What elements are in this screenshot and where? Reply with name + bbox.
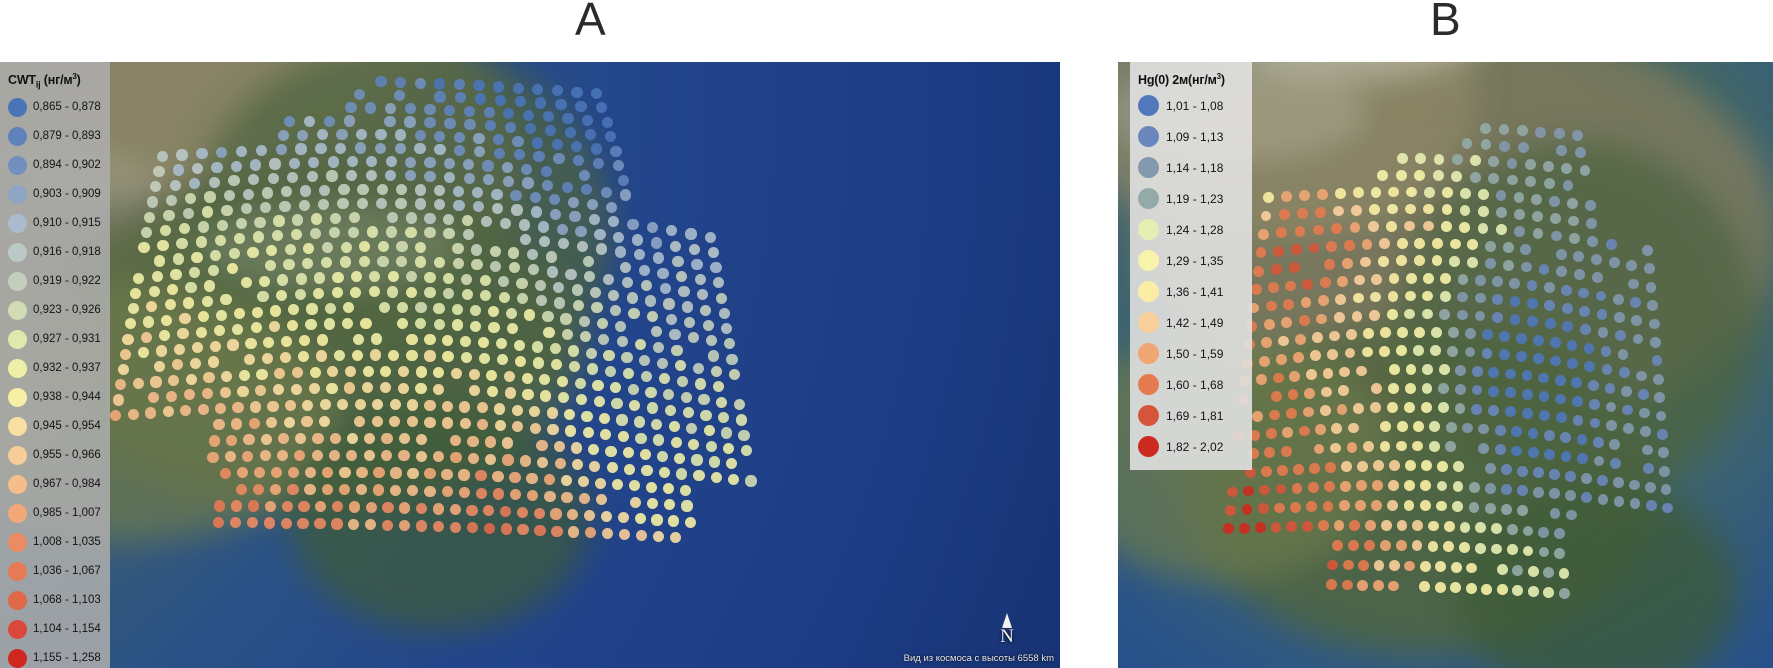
data-cell-dot	[1293, 352, 1304, 363]
data-cell-dot	[1404, 480, 1415, 491]
data-cell-dot	[1281, 446, 1292, 457]
data-cell-dot	[1543, 567, 1554, 578]
data-cell-dot	[415, 78, 426, 89]
data-cell-dot	[1544, 430, 1555, 441]
data-cell-dot	[512, 405, 523, 416]
data-cell-dot	[1478, 189, 1489, 200]
legend-item: 1,24 - 1,28	[1136, 214, 1244, 245]
data-cell-dot	[1349, 520, 1360, 531]
data-cell-dot	[1621, 386, 1632, 397]
data-cell-dot	[700, 410, 711, 421]
data-cell-dot	[1469, 482, 1480, 493]
data-cell-dot	[1429, 441, 1440, 452]
data-cell-dot	[591, 143, 602, 154]
data-cell-dot	[533, 357, 544, 368]
data-cell-dot	[536, 440, 547, 451]
data-cell-dot	[1323, 368, 1334, 379]
data-cell-dot	[1556, 249, 1567, 260]
data-cell-dot	[227, 339, 238, 350]
data-cell-dot	[1589, 399, 1600, 410]
data-cell-dot	[512, 136, 523, 147]
data-cell-dot	[502, 162, 513, 173]
data-cell-dot	[1511, 426, 1522, 437]
data-cell-dot	[1485, 483, 1496, 494]
data-cell-dot	[299, 200, 310, 211]
data-cell-dot	[562, 182, 573, 193]
data-cell-dot	[1432, 238, 1443, 249]
data-cell-dot	[221, 205, 232, 216]
data-cell-dot	[1459, 222, 1470, 233]
data-cell-dot	[555, 458, 566, 469]
legend-title-main-b: Hg(0) 2м	[1138, 73, 1188, 87]
legend-item: 0,916 - 0,918	[6, 238, 102, 267]
data-cell-dot	[1295, 334, 1306, 345]
data-cell-dot	[149, 286, 160, 297]
data-cell-dot	[691, 454, 702, 465]
legend-color-swatch	[1138, 405, 1159, 426]
data-cell-dot	[405, 227, 416, 238]
data-cell-dot	[544, 474, 555, 485]
data-cell-dot	[1281, 317, 1292, 328]
north-arrow-a: N	[994, 613, 1020, 644]
data-cell-dot	[540, 390, 551, 401]
legend-item: 1,008 - 1,035	[6, 528, 102, 557]
data-cell-dot	[621, 352, 632, 363]
data-cell-dot	[1387, 309, 1398, 320]
data-cell-dot	[1587, 236, 1598, 247]
data-cell-dot	[1561, 285, 1572, 296]
data-cell-dot	[1289, 262, 1300, 273]
data-cell-dot	[691, 259, 702, 270]
data-cell-dot	[356, 467, 367, 478]
legend-title-main-a: CWT	[8, 73, 36, 87]
data-cell-dot	[1478, 443, 1489, 454]
data-cell-dot	[395, 143, 406, 154]
data-cell-dot	[647, 402, 658, 413]
data-cell-dot	[1422, 364, 1433, 375]
data-cell-dot	[1266, 301, 1277, 312]
data-cell-dot	[1533, 467, 1544, 478]
data-cell-dot	[627, 219, 638, 230]
data-cell-dot	[471, 244, 482, 255]
legend-color-swatch	[8, 446, 27, 465]
data-cell-dot	[708, 350, 719, 361]
data-cell-dot	[641, 465, 652, 476]
legend-color-swatch	[8, 156, 27, 175]
data-cell-dot	[453, 258, 464, 269]
data-cell-dot	[309, 383, 320, 394]
data-cell-dot	[494, 148, 505, 159]
data-cell-dot	[671, 437, 682, 448]
data-cell-dot	[1389, 364, 1400, 375]
data-cell-dot	[547, 266, 558, 277]
data-cell-dot	[1274, 503, 1285, 514]
data-cell-dot	[1642, 245, 1653, 256]
data-cell-dot	[1533, 353, 1544, 364]
data-cell-dot	[1491, 544, 1502, 555]
data-cell-dot	[526, 473, 537, 484]
data-cell-dot	[1618, 349, 1629, 360]
data-cell-dot	[1579, 306, 1590, 317]
data-cell-dot	[502, 454, 513, 465]
data-cell-dot	[1388, 291, 1399, 302]
data-cell-dot	[594, 229, 605, 240]
legend-item: 0,927 - 0,931	[6, 325, 102, 354]
data-cell-dot	[1404, 500, 1415, 511]
data-cell-dot	[433, 503, 444, 514]
data-cell-dot	[610, 146, 621, 157]
data-cell-dot	[382, 502, 393, 513]
legend-item-label: 0,879 - 0,893	[33, 130, 101, 142]
data-cell-dot	[1273, 373, 1284, 384]
data-cell-dot	[1550, 337, 1561, 348]
data-cell-dot	[641, 371, 652, 382]
legend-item-label: 0,916 - 0,918	[33, 246, 101, 258]
data-cell-dot	[517, 507, 528, 518]
data-cell-dot	[377, 184, 388, 195]
data-cell-dot	[482, 160, 493, 171]
data-cell-dot	[170, 269, 181, 280]
data-cell-dot	[1303, 407, 1314, 418]
data-cell-dot	[719, 308, 730, 319]
data-cell-dot	[442, 351, 453, 362]
legend-item-label: 1,01 - 1,08	[1166, 99, 1223, 113]
data-cell-dot	[520, 455, 531, 466]
data-cell-dot	[365, 102, 376, 113]
data-cell-dot	[534, 508, 545, 519]
data-cell-dot	[1342, 580, 1353, 591]
data-cell-dot	[1539, 264, 1550, 275]
data-cell-dot	[1413, 345, 1424, 356]
data-cell-dot	[601, 187, 612, 198]
data-cell-dot	[166, 391, 177, 402]
data-cell-dot	[464, 106, 475, 117]
legend-item-label: 0,955 - 0,966	[33, 449, 101, 461]
data-cell-dot	[605, 131, 616, 142]
data-cell-dot	[1533, 487, 1544, 498]
data-cell-dot	[1528, 428, 1539, 439]
data-cell-dot	[322, 484, 333, 495]
data-cell-dot	[196, 148, 207, 159]
data-cell-dot	[1613, 294, 1624, 305]
data-cell-dot	[433, 303, 444, 314]
data-cell-dot	[1514, 226, 1525, 237]
data-cell-dot	[154, 361, 165, 372]
data-cell-dot	[451, 368, 462, 379]
data-cell-dot	[366, 502, 377, 513]
data-cell-dot	[1528, 566, 1539, 577]
legend-item-label: 0,932 - 0,937	[33, 362, 101, 374]
data-cell-dot	[1567, 198, 1578, 209]
data-cell-dot	[1261, 466, 1272, 477]
data-cell-dot	[1397, 421, 1408, 432]
data-cell-dot	[618, 431, 629, 442]
data-cell-dot	[688, 439, 699, 450]
legend-item-label: 0,865 - 0,878	[33, 101, 101, 113]
data-cell-dot	[565, 127, 576, 138]
data-cell-dot	[562, 329, 573, 340]
data-cell-dot	[332, 287, 343, 298]
data-cell-dot	[1372, 480, 1383, 491]
data-cell-dot	[627, 292, 638, 303]
legend-color-swatch	[8, 272, 27, 291]
data-cell-dot	[1514, 192, 1525, 203]
data-cell-dot	[1313, 225, 1324, 236]
data-cell-dot	[315, 143, 326, 154]
data-cell-dot	[442, 401, 453, 412]
data-cell-dot	[331, 518, 342, 529]
data-cell-dot	[1485, 241, 1496, 252]
data-cell-dot	[1308, 482, 1319, 493]
data-cell-dot	[1421, 402, 1432, 413]
legend-item: 0,879 - 0,893	[6, 122, 102, 151]
data-cell-dot	[406, 350, 417, 361]
data-cell-dot	[183, 208, 194, 219]
data-cell-dot	[224, 190, 235, 201]
data-cell-dot	[354, 416, 365, 427]
data-cell-dot	[450, 452, 461, 463]
legend-color-swatch	[1138, 343, 1159, 364]
data-cell-dot	[630, 497, 641, 508]
data-cell-dot	[480, 275, 491, 286]
data-cell-dot	[671, 345, 682, 356]
data-cell-dot	[1639, 408, 1650, 419]
data-cell-dot	[441, 469, 452, 480]
data-cell-dot	[395, 198, 406, 209]
legend-item-label: 0,938 - 0,944	[33, 391, 101, 403]
data-cell-dot	[1460, 188, 1471, 199]
data-cell-dot	[1371, 500, 1382, 511]
data-cell-dot	[390, 467, 401, 478]
data-cell-dot	[424, 117, 435, 128]
data-cell-dot	[355, 142, 366, 153]
data-cell-dot	[698, 394, 709, 405]
data-cell-dot	[311, 213, 322, 224]
data-cell-dot	[1353, 293, 1364, 304]
data-cell-dot	[300, 185, 311, 196]
data-cell-dot	[703, 320, 714, 331]
data-cell-dot	[670, 532, 681, 543]
data-cell-dot	[415, 256, 426, 267]
data-cell-dot	[576, 394, 587, 405]
data-cell-dot	[1507, 544, 1518, 555]
data-cell-dot	[1449, 256, 1460, 267]
data-cell-dot	[407, 399, 418, 410]
data-cell-dot	[211, 162, 222, 173]
data-cell-dot	[204, 191, 215, 202]
data-cell-dot	[157, 240, 168, 251]
data-cell-dot	[1555, 375, 1566, 386]
data-cell-dot	[1348, 540, 1359, 551]
data-cell-dot	[384, 116, 395, 127]
data-cell-dot	[571, 87, 582, 98]
legend-title-a: CWTij (нг/м3)	[8, 72, 102, 90]
legend-panel-b: Hg(0) 2м(нг/м3) 1,01 - 1,081,09 - 1,131,…	[1130, 62, 1252, 470]
data-cell-dot	[530, 423, 541, 434]
data-cell-dot	[198, 221, 209, 232]
data-cell-dot	[328, 156, 339, 167]
data-cell-dot	[1358, 560, 1369, 571]
data-cell-dot	[1380, 327, 1391, 338]
data-cell-dot	[1496, 224, 1507, 235]
data-cell-dot	[208, 356, 219, 367]
panel-label-a: A	[575, 0, 606, 42]
data-cell-dot	[1614, 312, 1625, 323]
data-cell-dot	[355, 399, 366, 410]
data-cell-dot	[663, 483, 674, 494]
data-cell-dot	[329, 450, 340, 461]
data-cell-dot	[364, 433, 375, 444]
data-cell-dot	[1251, 284, 1262, 295]
north-arrow-label: N	[994, 629, 1020, 644]
data-cell-dot	[1440, 291, 1451, 302]
data-cell-dot	[359, 256, 370, 267]
data-cell-dot	[398, 383, 409, 394]
data-cell-dot	[1636, 371, 1647, 382]
data-cell-dot	[1312, 332, 1323, 343]
data-cell-dot	[138, 242, 149, 253]
legend-item: 0,938 - 0,944	[6, 383, 102, 412]
data-cell-dot	[325, 303, 336, 314]
data-cell-dot	[587, 363, 598, 374]
legend-color-swatch	[8, 214, 27, 233]
data-cell-dot	[1413, 421, 1424, 432]
data-cell-dot	[312, 433, 323, 444]
data-cell-dot	[443, 273, 454, 284]
data-cell-dot	[1565, 471, 1576, 482]
data-cell-dot	[1276, 354, 1287, 365]
legend-item-label: 1,104 - 1,154	[33, 623, 101, 635]
data-cell-dot	[1471, 404, 1482, 415]
data-cell-dot	[607, 462, 618, 473]
data-cell-dot	[517, 524, 528, 535]
data-cell-dot	[424, 334, 435, 345]
data-cell-dot	[1406, 364, 1417, 375]
data-cell-dot	[565, 269, 576, 280]
data-cell-dot	[593, 158, 604, 169]
data-cell-dot	[1326, 241, 1337, 252]
data-cell-dot	[185, 282, 196, 293]
data-cell-dot	[1318, 520, 1329, 531]
data-cell-dot	[1299, 315, 1310, 326]
data-cell-dot	[444, 118, 455, 129]
data-cell-dot	[324, 116, 335, 127]
data-cell-dot	[1528, 447, 1539, 458]
data-cell-dot	[1455, 365, 1466, 376]
data-cell-dot	[1623, 423, 1634, 434]
data-cell-dot	[1495, 425, 1506, 436]
data-cell-dot	[1437, 461, 1448, 472]
data-cell-dot	[339, 467, 350, 478]
data-cell-dot	[546, 251, 557, 262]
data-cell-dot	[273, 215, 284, 226]
data-cell-dot	[310, 367, 321, 378]
data-cell-dot	[396, 184, 407, 195]
data-cell-dot	[1584, 343, 1595, 354]
data-cell-dot	[1466, 583, 1477, 594]
data-cell-dot	[1339, 367, 1350, 378]
data-cell-dot	[450, 522, 461, 533]
data-cell-dot	[458, 469, 469, 480]
data-cell-dot	[415, 242, 426, 253]
data-cell-dot	[1544, 282, 1555, 293]
data-cell-dot	[685, 228, 696, 239]
data-cell-dot	[738, 430, 749, 441]
data-cell-dot	[404, 116, 415, 127]
data-cell-dot	[214, 500, 225, 511]
data-cell-dot	[250, 159, 261, 170]
data-cell-dot	[395, 129, 406, 140]
data-cell-dot	[462, 289, 473, 300]
data-cell-dot	[1373, 580, 1384, 591]
legend-item: 0,910 - 0,915	[6, 209, 102, 238]
legend-color-swatch	[8, 98, 27, 117]
data-cell-dot	[1645, 482, 1656, 493]
data-cell-dot	[261, 434, 272, 445]
data-cell-dot	[519, 219, 530, 230]
data-cell-dot	[491, 189, 502, 200]
data-cell-dot	[681, 392, 692, 403]
data-cell-dot	[705, 232, 716, 243]
data-cell-dot	[716, 397, 727, 408]
data-cell-dot	[375, 76, 386, 87]
legend-color-swatch	[8, 504, 27, 523]
data-cell-dot	[1332, 540, 1343, 551]
data-cell-dot	[561, 492, 572, 503]
data-cell-dot	[1588, 380, 1599, 391]
data-cell-dot	[459, 401, 470, 412]
data-cell-dot	[569, 211, 580, 222]
data-cell-dot	[424, 350, 435, 361]
data-cell-dot	[373, 484, 384, 495]
data-cell-dot	[1282, 427, 1293, 438]
legend-item: 1,01 - 1,08	[1136, 90, 1244, 121]
data-cell-dot	[1501, 464, 1512, 475]
data-cell-dot	[553, 153, 564, 164]
data-cell-dot	[265, 260, 276, 271]
data-cell-dot	[1560, 432, 1571, 443]
legend-item: 0,985 - 1,007	[6, 499, 102, 528]
data-cell-dot	[1580, 165, 1591, 176]
data-cell-dot	[1593, 437, 1604, 448]
data-cell-dot	[141, 332, 152, 343]
legend-item-label: 1,155 - 1,258	[33, 652, 101, 664]
data-cell-dot	[330, 213, 341, 224]
data-cell-dot	[1551, 231, 1562, 242]
data-cell-dot	[196, 236, 207, 247]
data-cell-dot	[128, 409, 139, 420]
data-cell-dot	[551, 526, 562, 537]
data-cell-dot	[1492, 312, 1503, 323]
data-cell-dot	[363, 366, 374, 377]
data-cell-dot	[1414, 238, 1425, 249]
legend-color-swatch	[8, 127, 27, 146]
legend-color-swatch	[1138, 95, 1159, 116]
data-cell-dot	[1289, 371, 1300, 382]
data-cell-dot	[340, 256, 351, 267]
data-cell-dot	[396, 241, 407, 252]
data-cell-dot	[1239, 523, 1250, 534]
data-cell-dot	[1368, 221, 1379, 232]
data-cell-dot	[1605, 383, 1616, 394]
data-cell-dot	[1369, 204, 1380, 215]
data-cell-dot	[711, 472, 722, 483]
legend-color-swatch	[8, 243, 27, 262]
data-cell-dot	[248, 500, 259, 511]
data-cell-dot	[1460, 522, 1471, 533]
data-cell-dot	[672, 256, 683, 267]
data-cell-dot	[1507, 175, 1518, 186]
